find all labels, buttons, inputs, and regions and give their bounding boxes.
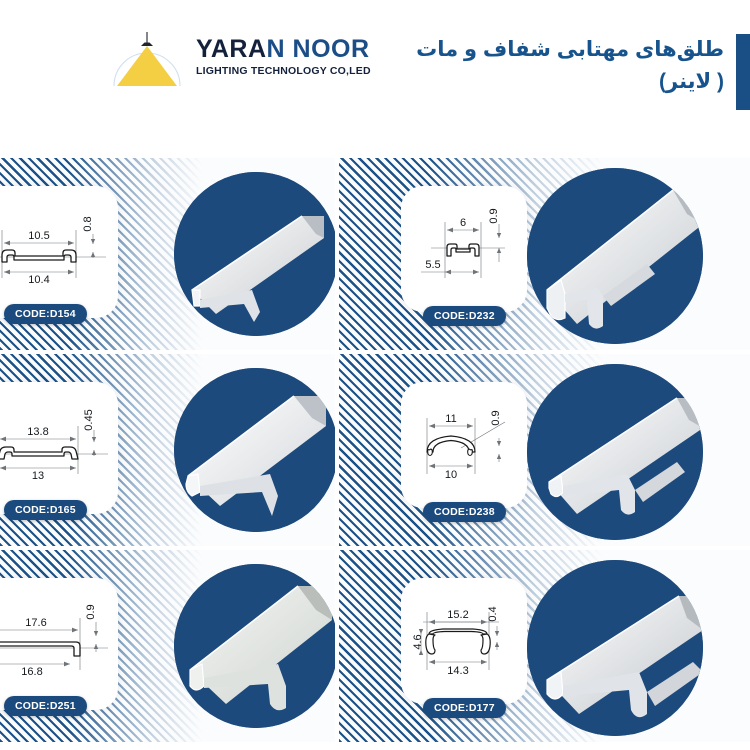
column-separator <box>335 158 339 750</box>
pendant-lamp-icon <box>108 24 186 90</box>
product-cell-d165[interactable]: 13.8 13 0.45 CODE:D165 <box>0 354 335 546</box>
product-code-badge: CODE:D154 <box>4 304 87 324</box>
product-code-badge: CODE:D251 <box>4 696 87 716</box>
row-separator-1 <box>0 350 750 354</box>
page-header: YARAN NOOR LIGHTING TECHNOLOGY CO,LED طل… <box>0 0 750 150</box>
product-cell-d154[interactable]: 10.5 10.4 0.8 CODE:D154 <box>0 158 335 350</box>
product-cell-d238[interactable]: 11 10 0.9 CODE:D238 <box>339 354 750 546</box>
dim-right-d177: 0.4 <box>487 606 499 621</box>
product-photo-d177 <box>527 560 703 736</box>
product-photo-d165 <box>174 368 335 532</box>
dim-right-d232: 0.9 <box>488 208 500 223</box>
product-photo-d154 <box>174 172 335 336</box>
title-accent-bar <box>736 34 750 110</box>
catalog-page: YARAN NOOR LIGHTING TECHNOLOGY CO,LED طل… <box>0 0 750 750</box>
dim-right-d154: 0.8 <box>82 216 94 231</box>
row-separator-2 <box>0 546 750 550</box>
dim-bottom-d154: 10.4 <box>28 274 49 286</box>
technical-drawing-d238: 11 10 0.9 <box>401 382 527 508</box>
technical-drawing-d165: 13.8 13 0.45 <box>0 382 118 514</box>
product-code-badge: CODE:D232 <box>423 306 506 326</box>
dim-top-d238: 11 <box>445 413 456 425</box>
product-cell-d251[interactable]: 17.6 16.8 0.9 CODE:D251 <box>0 550 335 742</box>
page-title: طلق‌های مهتابی شفاف و مات ( لاینر) <box>330 34 750 110</box>
dim-top-d177: 15.2 <box>447 609 468 621</box>
product-cell-d232[interactable]: 6 5.5 0.9 CODE:D232 <box>339 158 750 350</box>
technical-drawing-d232: 6 5.5 0.9 <box>401 186 527 312</box>
dim-bottom-d232: 5.5 <box>425 259 440 271</box>
brand-name-part1: YARA <box>196 35 267 63</box>
dim-bottom-d238: 10 <box>445 469 457 481</box>
dim-bottom-d177: 14.3 <box>447 665 468 677</box>
product-cell-d177[interactable]: 15.2 14.3 4.6 0.4 CODE:D177 <box>339 550 750 742</box>
dim-right-d251: 0.9 <box>85 604 97 619</box>
product-photo-d232 <box>527 168 703 344</box>
product-code-badge: CODE:D238 <box>423 502 506 522</box>
dim-top-d251: 17.6 <box>25 617 46 629</box>
dim-top-d232: 6 <box>460 217 466 229</box>
product-code-badge: CODE:D177 <box>423 698 506 718</box>
page-title-line-1: طلق‌های مهتابی شفاف و مات <box>416 34 724 66</box>
dim-top-d165: 13.8 <box>27 426 48 438</box>
technical-drawing-d177: 15.2 14.3 4.6 0.4 <box>401 578 527 704</box>
dim-top-d154: 10.5 <box>28 230 49 242</box>
dim-right-d238: 0.9 <box>490 410 502 425</box>
technical-drawing-d154: 10.5 10.4 0.8 <box>0 186 118 318</box>
dim-left-d177: 4.6 <box>412 634 424 649</box>
product-grid: 10.5 10.4 0.8 CODE:D154 <box>0 158 750 750</box>
dim-bottom-d165: 13 <box>32 470 44 482</box>
dim-bottom-d251: 16.8 <box>21 666 42 678</box>
product-photo-d251 <box>174 564 335 728</box>
technical-drawing-d251: 17.6 16.8 0.9 <box>0 578 118 710</box>
dim-right-d165: 0.45 <box>83 409 95 430</box>
page-title-line-2: ( لاینر) <box>416 66 724 98</box>
page-title-text: طلق‌های مهتابی شفاف و مات ( لاینر) <box>416 34 736 97</box>
product-photo-d238 <box>527 364 703 540</box>
product-code-badge: CODE:D165 <box>4 500 87 520</box>
